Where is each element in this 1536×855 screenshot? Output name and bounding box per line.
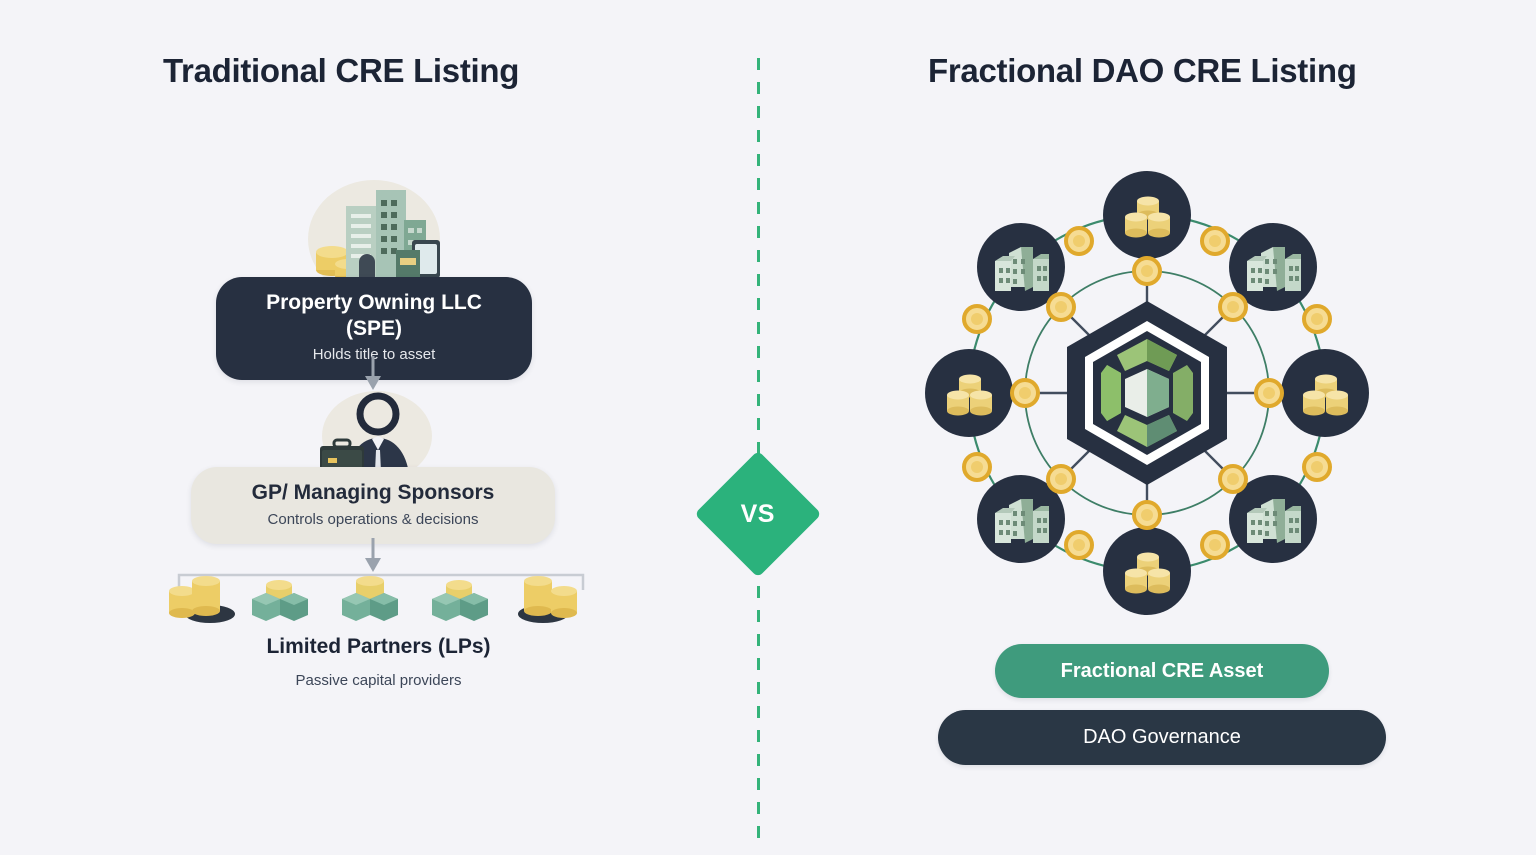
pill-fractional-cre-asset[interactable]: Fractional CRE Asset — [995, 644, 1329, 698]
dao-network-diagram — [897, 165, 1397, 625]
network-node-coin-left — [925, 349, 1013, 437]
token-dot-icon — [964, 454, 990, 480]
token-dot-icon — [1220, 294, 1246, 320]
token-dot-icon — [1220, 466, 1246, 492]
token-dot-icon — [964, 306, 990, 332]
pill-dao-governance[interactable]: DAO Governance — [938, 710, 1386, 765]
token-dot-icon — [1048, 294, 1074, 320]
lp-title: Limited Partners (LPs) — [0, 635, 757, 659]
token-dot-icon — [1066, 532, 1092, 558]
fractional-dao-panel: Fractional DAO CRE Listing — [757, 0, 1536, 855]
pill-label: Fractional CRE Asset — [1061, 660, 1264, 683]
token-dot-icon — [1304, 454, 1330, 480]
token-dot-icon — [1134, 258, 1160, 284]
pill-label: DAO Governance — [1083, 726, 1241, 749]
page-title-traditional: Traditional CRE Listing — [163, 52, 519, 90]
network-node-coin-top — [1103, 171, 1191, 259]
token-dot-icon — [1048, 466, 1074, 492]
token-dot-icon — [1202, 532, 1228, 558]
token-dot-icon — [1012, 380, 1038, 406]
token-dot-icon — [1256, 380, 1282, 406]
token-dot-icon — [1202, 228, 1228, 254]
card-title: Property Owning LLC (SPE) — [238, 290, 510, 341]
traditional-cre-panel: Traditional CRE Listing — [0, 0, 757, 855]
page-title-fractional: Fractional DAO CRE Listing — [928, 52, 1357, 90]
card-subtitle: Controls operations & decisions — [213, 510, 533, 530]
arrow-down-icon-spe-to-gp — [358, 356, 388, 392]
token-dot-icon — [1304, 306, 1330, 332]
coins-and-cubes-row-icon — [158, 563, 598, 627]
token-dot-icon — [1066, 228, 1092, 254]
token-dot-icon — [1134, 502, 1160, 528]
network-node-coin-bottom — [1103, 527, 1191, 615]
infographic-canvas: Traditional CRE Listing — [0, 0, 1536, 855]
card-gp-managing-sponsors[interactable]: GP/ Managing Sponsors Controls operation… — [191, 467, 555, 544]
network-node-coin-right — [1281, 349, 1369, 437]
card-title: GP/ Managing Sponsors — [213, 480, 533, 506]
lp-subtitle: Passive capital providers — [0, 672, 757, 689]
